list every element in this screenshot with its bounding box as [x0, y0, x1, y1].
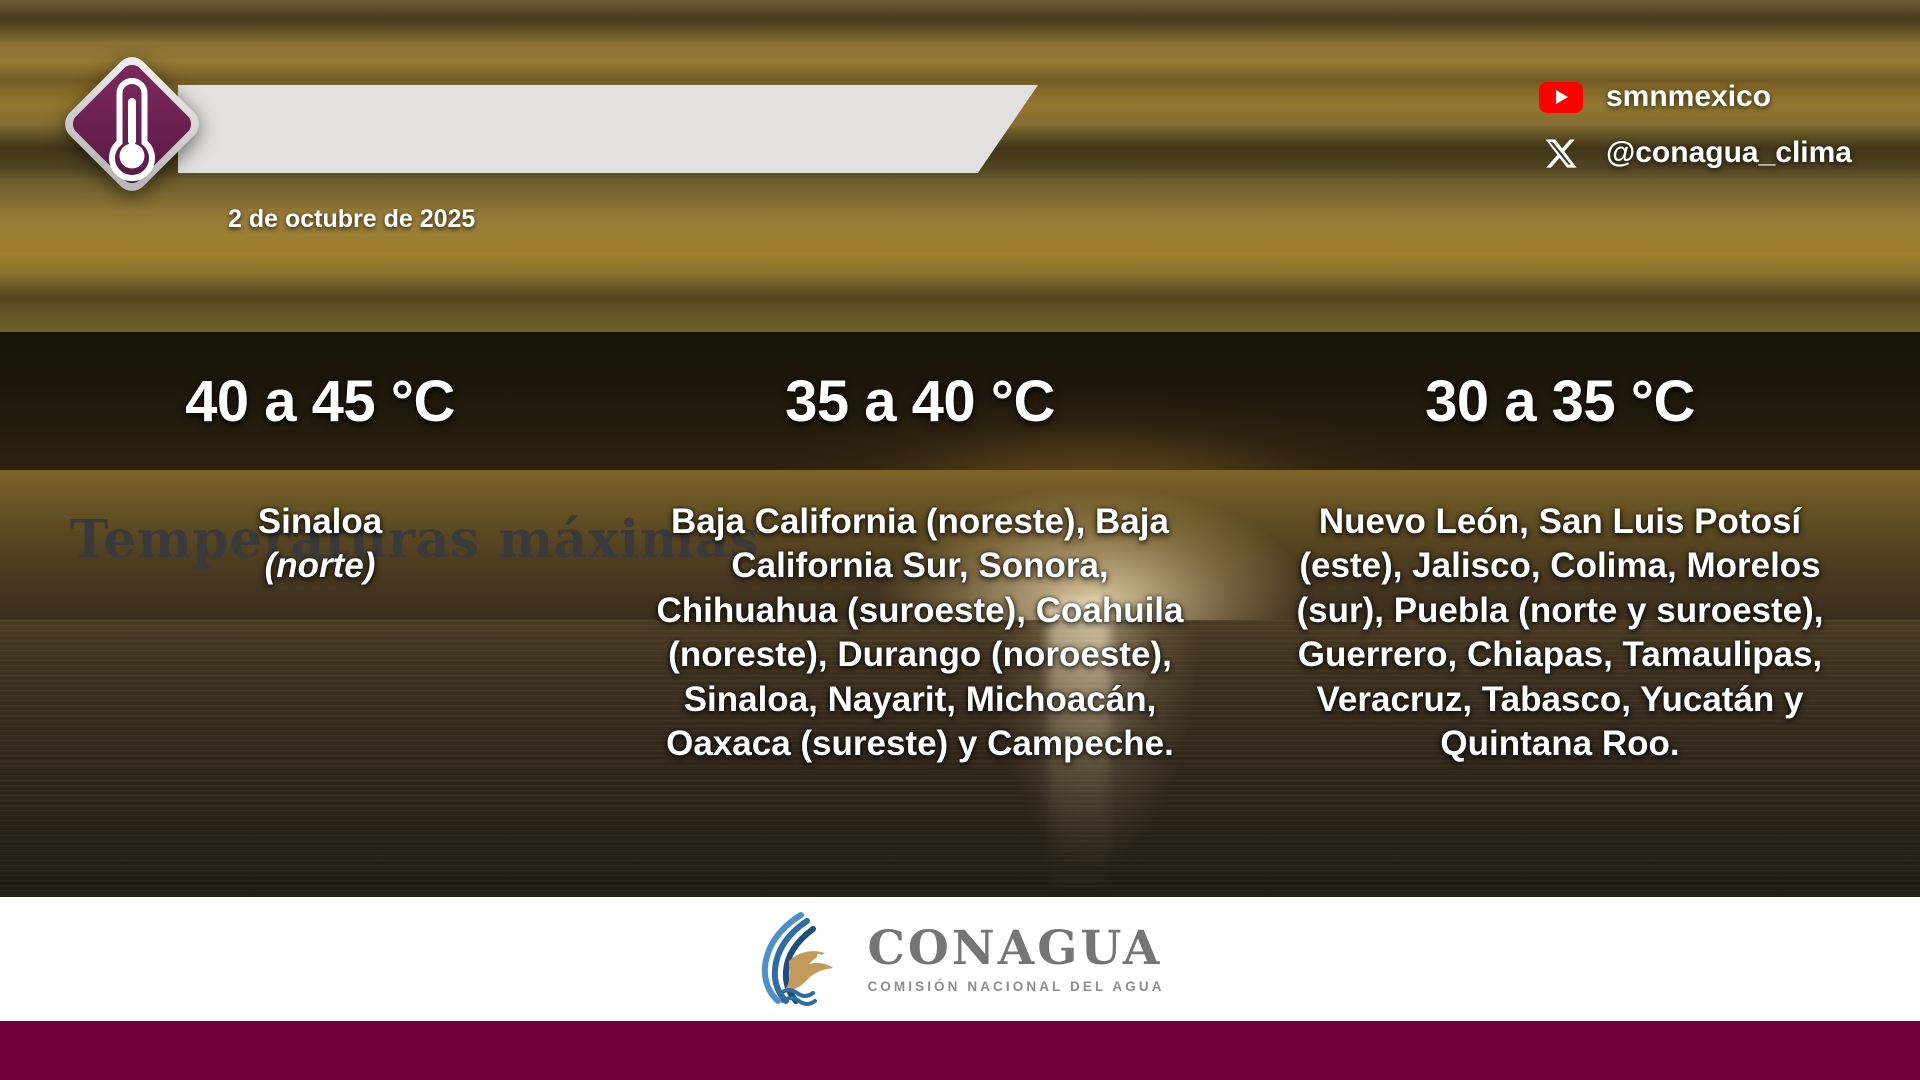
footer-accent-bar	[0, 1021, 1920, 1080]
state-column-3: Nuevo León, San Luis Potosí (este), Jali…	[1200, 470, 1920, 767]
conagua-tagline: COMISIÓN NACIONAL DEL AGUA	[867, 979, 1164, 994]
thermometer-diamond-icon	[46, 38, 218, 210]
temperature-range-band: 40 a 45 °C 35 a 40 °C 30 a 35 °C	[0, 332, 1920, 470]
state-column-2: Baja California (noreste), Baja Californ…	[640, 470, 1200, 767]
x-twitter-icon	[1538, 136, 1584, 170]
range-header-3: 30 a 35 °C	[1200, 368, 1920, 435]
youtube-icon	[1538, 80, 1584, 114]
range-header-1: 40 a 45 °C	[0, 368, 640, 435]
footer-logo-band: CONAGUA COMISIÓN NACIONAL DEL AGUA	[0, 897, 1920, 1021]
title-banner	[178, 85, 1038, 173]
state-columns: Sinaloa (norte) Baja California (noreste…	[0, 470, 1920, 897]
state-qualifier-1: (norte)	[60, 544, 580, 588]
youtube-handle: smnmexico	[1606, 80, 1771, 114]
conagua-logo: CONAGUA COMISIÓN NACIONAL DEL AGUA	[755, 909, 1164, 1009]
social-handles: smnmexico @conagua_clima	[1538, 80, 1852, 170]
state-list-3: Nuevo León, San Luis Potosí (este), Jali…	[1296, 502, 1823, 763]
state-list-2: Baja California (noreste), Baja Californ…	[657, 502, 1184, 763]
x-handle: @conagua_clima	[1606, 136, 1852, 170]
conagua-brand: CONAGUA	[867, 925, 1164, 972]
state-list-1: Sinaloa	[258, 502, 382, 541]
state-column-1: Sinaloa (norte)	[0, 470, 640, 589]
infographic-canvas: Temperaturas máximas 2 de octubre de 202…	[0, 0, 1920, 1080]
range-header-2: 35 a 40 °C	[640, 368, 1200, 435]
social-row-youtube[interactable]: smnmexico	[1538, 80, 1852, 114]
conagua-eagle-water-icon	[755, 909, 851, 1009]
social-row-x[interactable]: @conagua_clima	[1538, 136, 1852, 170]
forecast-date: 2 de octubre de 2025	[228, 205, 475, 234]
